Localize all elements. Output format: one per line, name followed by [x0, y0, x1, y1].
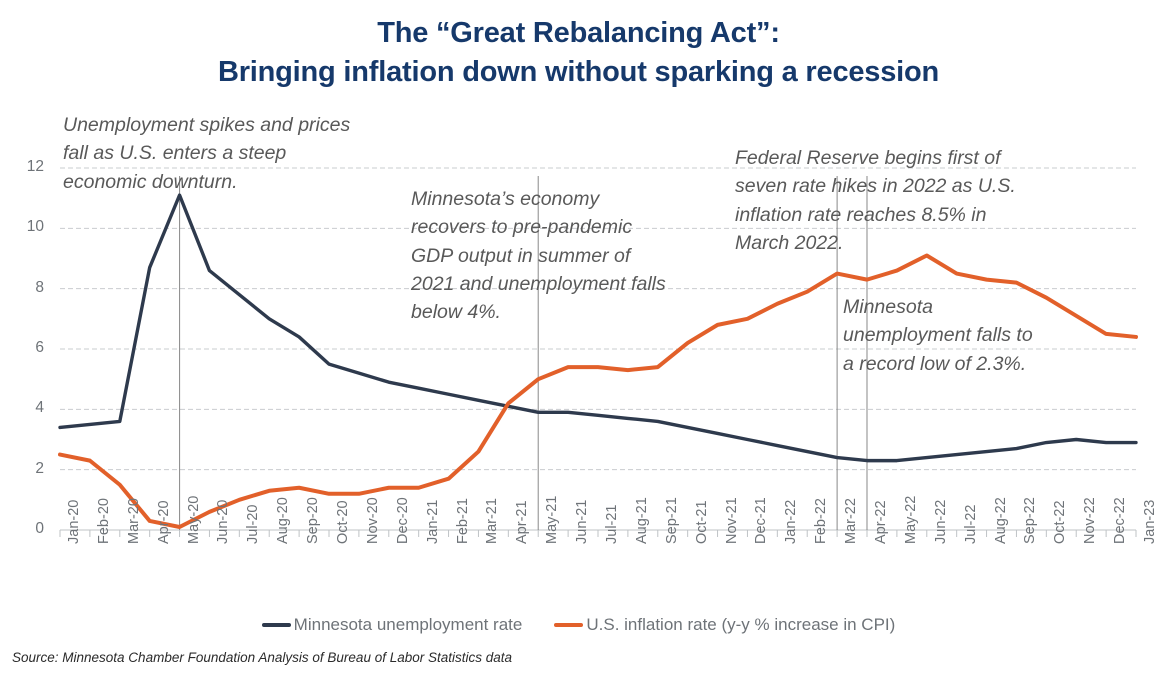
legend-swatch-inflation [554, 623, 583, 627]
x-axis-tick-label: Nov-22 [1082, 497, 1098, 544]
chart-page: The “Great Rebalancing Act”: Bringing in… [0, 0, 1157, 677]
x-axis-tick-label: Dec-20 [395, 497, 411, 544]
source-note: Source: Minnesota Chamber Foundation Ana… [12, 650, 512, 665]
x-axis-tick-label: Aug-20 [275, 497, 291, 544]
y-axis-tick-label: 0 [18, 520, 44, 538]
x-axis-tick-label: Dec-21 [753, 497, 769, 544]
x-axis-tick-label: Feb-20 [96, 498, 112, 544]
legend-item-unemployment: Minnesota unemployment rate [262, 615, 523, 635]
x-axis-tick-label: Sep-22 [1022, 497, 1038, 544]
x-axis-tick-label: Mar-20 [126, 498, 142, 544]
x-axis-tick-label: Apr-20 [156, 500, 172, 544]
x-axis-tick-label: Jul-20 [245, 505, 261, 545]
y-axis-tick-label: 2 [18, 460, 44, 478]
legend-item-inflation: U.S. inflation rate (y-y % increase in C… [554, 615, 895, 635]
x-axis-tick-label: Oct-20 [335, 500, 351, 544]
x-axis-tick-label: Jul-21 [604, 505, 620, 545]
y-axis-tick-label: 6 [18, 339, 44, 357]
y-axis-tick-label: 10 [18, 218, 44, 236]
x-axis-tick-label: Nov-20 [365, 497, 381, 544]
annotation-record-low-unemployment: Minnesota unemployment falls to a record… [843, 293, 1033, 378]
x-axis-tick-label: Jul-22 [963, 505, 979, 545]
x-axis-tick-label: Jan-21 [425, 500, 441, 544]
annotation-pandemic-downturn: Unemployment spikes and prices fall as U… [63, 111, 353, 196]
x-axis-tick-label: May-22 [903, 496, 919, 544]
x-axis-tick-label: Sep-21 [664, 497, 680, 544]
annotation-fed-rate-hikes: Federal Reserve begins first of seven ra… [735, 144, 1035, 257]
x-axis-tick-label: Jun-20 [215, 500, 231, 544]
y-axis-tick-label: 12 [18, 158, 44, 176]
x-axis-tick-label: May-21 [544, 496, 560, 544]
x-axis-tick-label: Feb-22 [813, 498, 829, 544]
x-axis-tick-label: May-20 [186, 496, 202, 544]
x-axis-tick-label: Apr-22 [873, 500, 889, 544]
x-axis-tick-label: Apr-21 [514, 500, 530, 544]
x-axis-tick-label: Dec-22 [1112, 497, 1128, 544]
x-axis-tick-label: Mar-21 [484, 498, 500, 544]
y-axis-tick-label: 8 [18, 279, 44, 297]
x-axis-tick-label: Jan-23 [1142, 500, 1157, 544]
x-axis-tick-label: Jan-22 [783, 500, 799, 544]
legend-label-unemployment: Minnesota unemployment rate [294, 615, 523, 635]
y-axis-tick-label: 4 [18, 399, 44, 417]
x-axis-tick-label: Sep-20 [305, 497, 321, 544]
x-axis-tick-label: Jun-22 [933, 500, 949, 544]
chart-legend: Minnesota unemployment rate U.S. inflati… [0, 615, 1157, 635]
x-axis-tick-label: Aug-22 [993, 497, 1009, 544]
legend-label-inflation: U.S. inflation rate (y-y % increase in C… [586, 615, 895, 635]
x-axis-tick-label: Aug-21 [634, 497, 650, 544]
x-axis-tick-label: Mar-22 [843, 498, 859, 544]
x-axis-tick-label: Feb-21 [455, 498, 471, 544]
x-axis-tick-label: Nov-21 [724, 497, 740, 544]
x-axis-tick-label: Oct-22 [1052, 500, 1068, 544]
x-axis-tick-label: Oct-21 [694, 500, 710, 544]
annotation-economic-recovery: Minnesota’s economy recovers to pre-pand… [411, 185, 676, 326]
legend-swatch-unemployment [262, 623, 291, 627]
x-axis-tick-label: Jan-20 [66, 500, 82, 544]
x-axis-tick-label: Jun-21 [574, 500, 590, 544]
